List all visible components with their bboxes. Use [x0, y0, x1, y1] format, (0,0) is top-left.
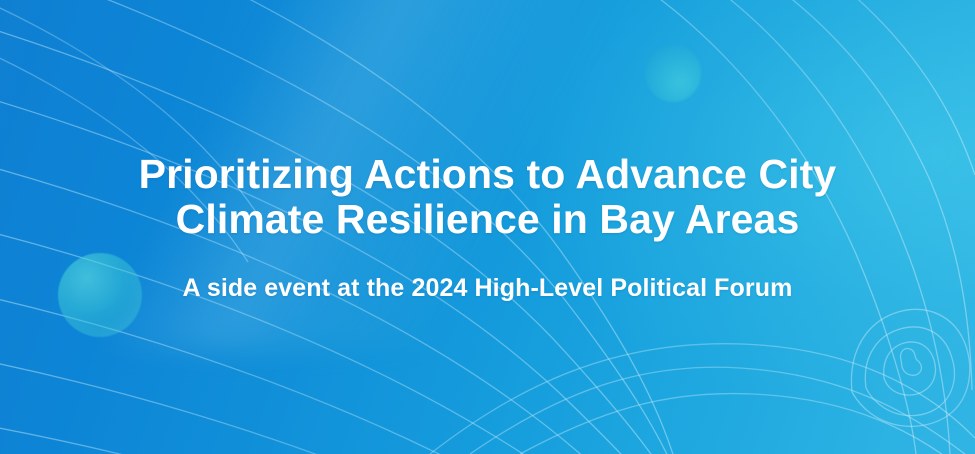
page-title-line-2: Climate Resilience in Bay Areas — [0, 197, 975, 242]
page-subtitle: A side event at the 2024 High-Level Poli… — [0, 242, 975, 303]
banner-text-block: Prioritizing Actions to Advance City Cli… — [0, 152, 975, 303]
page-title-line-1: Prioritizing Actions to Advance City — [0, 152, 975, 197]
teal-sphere-top — [645, 44, 701, 102]
event-banner: Prioritizing Actions to Advance City Cli… — [0, 0, 975, 454]
